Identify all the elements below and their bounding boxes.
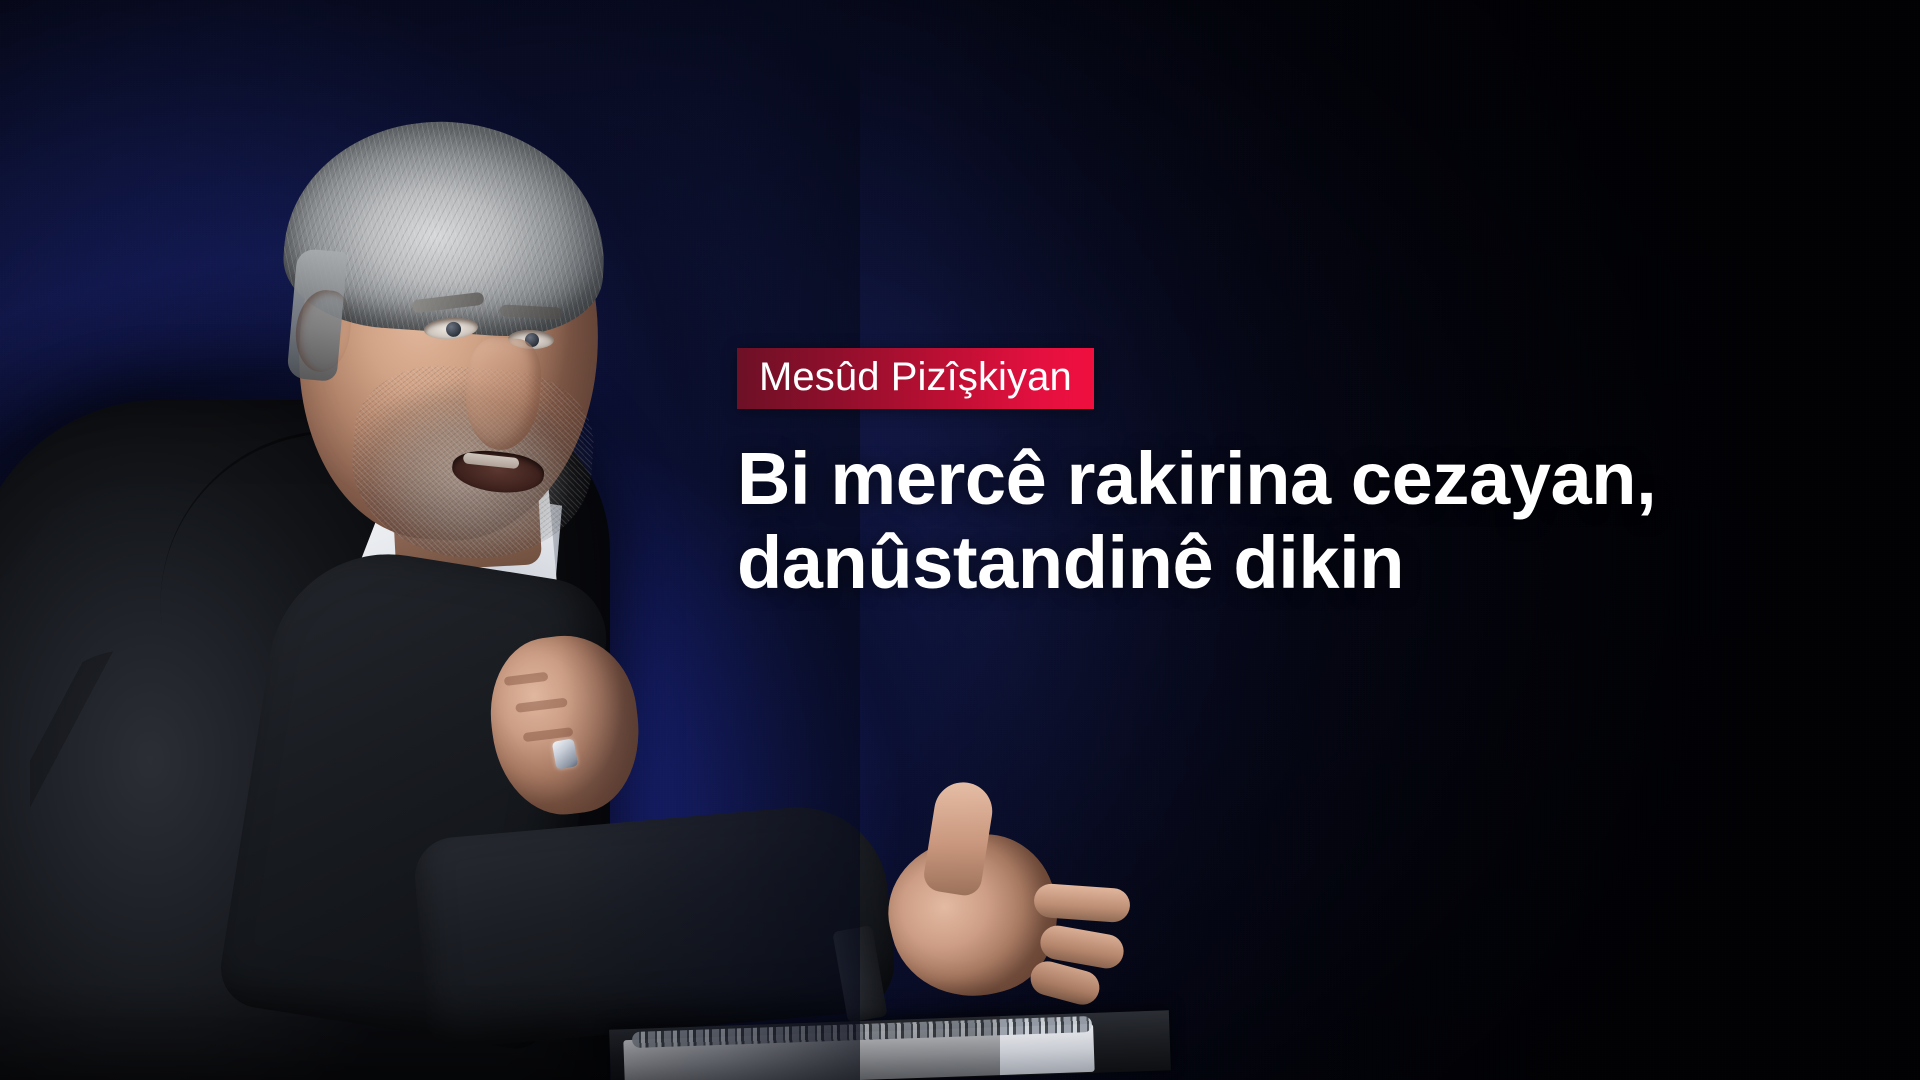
subject-photo [0, 0, 820, 1080]
knuckle [515, 698, 568, 713]
pupil-left [446, 321, 462, 337]
headline-line-1: Bi mercê rakirina cezayan, [737, 437, 1817, 521]
finger-ring [552, 738, 579, 769]
text-overlay: Mesûd Pizîşkiyan Bi mercê rakirina cezay… [737, 348, 1857, 606]
knuckle [504, 672, 549, 686]
speaker-name-banner: Mesûd Pizîşkiyan [737, 348, 1094, 409]
teeth [463, 452, 520, 469]
headline: Bi mercê rakirina cezayan, danûstandinê … [737, 437, 1817, 606]
extended-arm [412, 800, 899, 1050]
finger [1033, 883, 1131, 924]
news-graphic-card: Mesûd Pizîşkiyan Bi mercê rakirina cezay… [0, 0, 1920, 1080]
headline-line-2: danûstandinê dikin [737, 521, 1817, 605]
